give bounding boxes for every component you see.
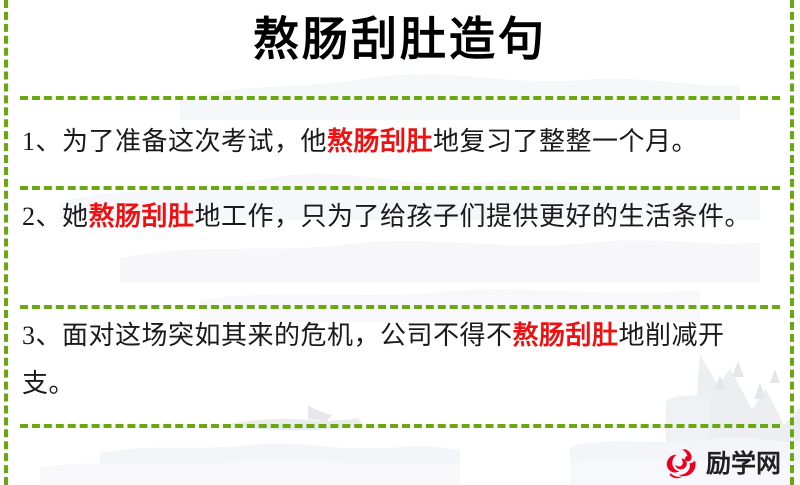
page-title: 熬肠刮肚造句 xyxy=(0,8,800,72)
page-root: 熬肠刮肚造句 1、为了准备这次考试，他熬肠刮肚地复习了整整一个月。 2、她熬肠刮… xyxy=(0,0,800,485)
sentence-text-before-2: 她 xyxy=(62,202,89,231)
divider-sentence-1 xyxy=(20,186,780,190)
frame-border-left xyxy=(4,0,8,485)
sentence-number-2: 2、 xyxy=(22,202,62,231)
divider-sentence-3 xyxy=(20,424,780,428)
flame-swirl-icon xyxy=(664,446,700,482)
idiom-highlight-1: 熬肠刮肚 xyxy=(327,127,433,156)
site-logo[interactable]: 励学网 xyxy=(664,444,790,484)
sentence-text-before-3: 面对这场突如其来的危机，公司不得不 xyxy=(62,321,513,350)
sentence-number-3: 3、 xyxy=(22,321,62,350)
sentence-item-1: 1、为了准备这次考试，他熬肠刮肚地复习了整整一个月。 xyxy=(22,118,772,166)
watermark-boat-and-shore xyxy=(40,395,460,485)
divider-sentence-2 xyxy=(20,305,780,309)
sentence-number-1: 1、 xyxy=(22,127,62,156)
idiom-highlight-2: 熬肠刮肚 xyxy=(89,202,195,231)
sentence-text-after-2: 地工作，只为了给孩子们提供更好的生活条件。 xyxy=(195,202,752,231)
logo-text: 励学网 xyxy=(706,446,781,482)
frame-border-right xyxy=(790,0,794,485)
sentence-text-after-1: 地复习了整整一个月。 xyxy=(433,127,698,156)
idiom-highlight-3: 熬肠刮肚 xyxy=(513,321,619,350)
sentence-item-2: 2、她熬肠刮肚地工作，只为了给孩子们提供更好的生活条件。 xyxy=(22,193,772,241)
sentence-text-before-1: 为了准备这次考试，他 xyxy=(62,127,327,156)
sentence-item-3: 3、面对这场突如其来的危机，公司不得不熬肠刮肚地削减开支。 xyxy=(22,312,772,408)
divider-title xyxy=(20,96,780,100)
